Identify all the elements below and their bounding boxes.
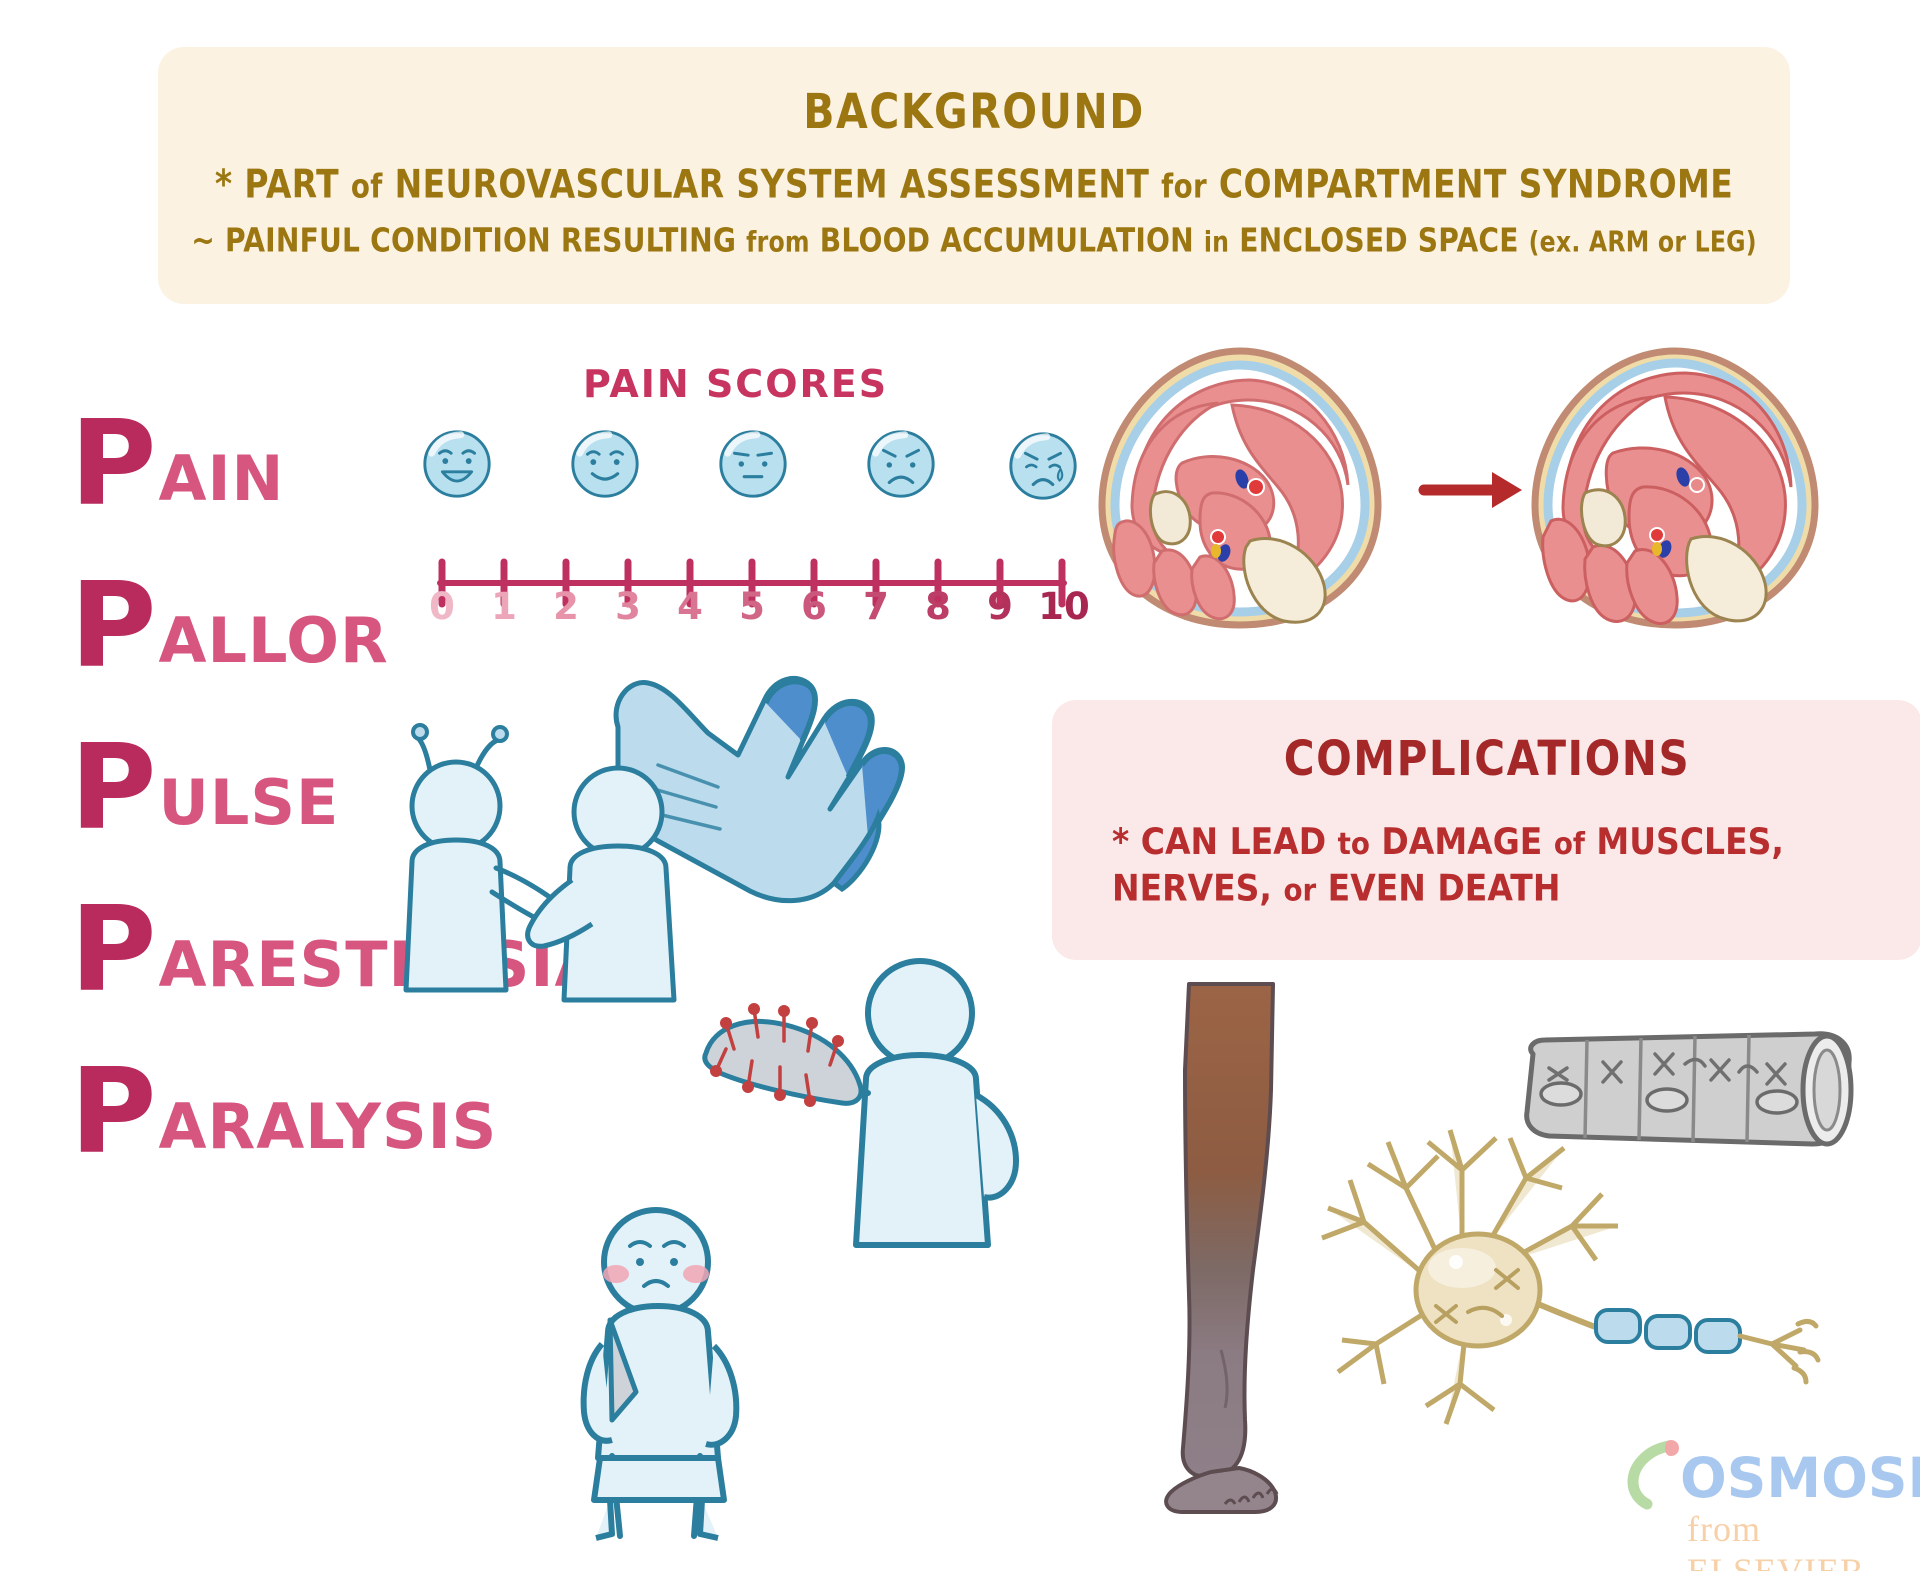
pain-number-1: 1 bbox=[491, 585, 517, 628]
osmosis-wordmark: OSMOSIS bbox=[1680, 1446, 1920, 1510]
happy-face-icon bbox=[418, 424, 496, 502]
pain-number-10: 10 bbox=[1038, 585, 1090, 628]
background-bullet-1: * PART of NEUROVASCULAR SYSTEM ASSESSMEN… bbox=[182, 162, 1765, 208]
bullet2-pre: ~ PAINFUL CONDITION RESULTING bbox=[191, 220, 746, 259]
bullet2-mid: BLOOD ACCUMULATION bbox=[810, 220, 1204, 259]
smile-face-icon bbox=[566, 424, 644, 502]
bullet1-mid: NEUROVASCULAR SYSTEM ASSESSMENT bbox=[383, 162, 1161, 208]
pain-number-5: 5 bbox=[739, 585, 765, 628]
bullet2-in: in bbox=[1204, 225, 1229, 258]
pain-face-row bbox=[418, 424, 1082, 516]
p-initial: P bbox=[70, 901, 154, 998]
pain-scores-title: PAIN SCORES bbox=[583, 362, 888, 406]
infographic-page: BACKGROUND * PART of NEUROVASCULAR SYSTE… bbox=[0, 0, 1920, 1571]
complications-bullet: * CAN LEAD to DAMAGE of MUSCLES, NERVES,… bbox=[1112, 819, 1920, 910]
background-info-box: BACKGROUND * PART of NEUROVASCULAR SYSTE… bbox=[158, 47, 1790, 304]
osmosis-logo: OSMOSIS from ELSEVIER bbox=[1625, 1432, 1920, 1557]
bullet1-of: of bbox=[351, 167, 383, 206]
background-bullet-2: ~ PAINFUL CONDITION RESULTING from BLOOD… bbox=[182, 220, 1765, 259]
comp-mid: DAMAGE bbox=[1370, 820, 1554, 863]
p-initial: P bbox=[70, 739, 154, 836]
pain-number-8: 8 bbox=[925, 585, 951, 628]
bullet2-end: ENCLOSED SPACE bbox=[1229, 220, 1528, 259]
pain-number-7: 7 bbox=[863, 585, 889, 628]
comp-of: of bbox=[1554, 826, 1585, 862]
frown-face-icon bbox=[862, 424, 940, 502]
pain-number-4: 4 bbox=[677, 585, 703, 628]
pain-number-3: 3 bbox=[615, 585, 641, 628]
right-arrow-icon bbox=[1420, 462, 1525, 518]
necrotic-leg-illustration bbox=[1155, 980, 1315, 1520]
pain-number-2: 2 bbox=[553, 585, 579, 628]
comp-tail: EVEN DEATH bbox=[1316, 866, 1560, 909]
leg-cross-section-normal-illustration bbox=[1090, 345, 1390, 630]
bullet2-from: from bbox=[746, 225, 810, 258]
osmosis-tagline: from ELSEVIER bbox=[1687, 1508, 1920, 1571]
comp-to: to bbox=[1338, 826, 1370, 862]
bullet1-end: COMPARTMENT SYNDROME bbox=[1207, 162, 1733, 208]
p-label: ARALYSIS bbox=[158, 1096, 497, 1158]
bullet1-pre: * PART bbox=[215, 162, 351, 208]
leg-cross-section-swollen-illustration bbox=[1525, 345, 1825, 630]
complications-info-box: COMPLICATIONS * CAN LEAD to DAMAGE of MU… bbox=[1052, 700, 1920, 960]
background-title: BACKGROUND bbox=[158, 83, 1790, 140]
damaged-muscle-fiber-illustration bbox=[1515, 1020, 1865, 1160]
pain-number-6: 6 bbox=[801, 585, 827, 628]
p-label: ALLOR bbox=[158, 610, 388, 672]
comp-or: or bbox=[1283, 871, 1316, 907]
pain-number-0: 0 bbox=[429, 585, 455, 628]
p-initial: P bbox=[70, 415, 154, 512]
bullet2-paren: (ex. ARM or LEG) bbox=[1529, 225, 1757, 258]
neutral-face-icon bbox=[714, 424, 792, 502]
bullet1-for: for bbox=[1161, 167, 1207, 206]
comp-pre: * CAN LEAD bbox=[1112, 820, 1338, 863]
p-initial: P bbox=[70, 577, 154, 674]
paralysis-illustration bbox=[568, 1200, 788, 1540]
p-label: AIN bbox=[158, 448, 284, 510]
p-initial: P bbox=[70, 1063, 154, 1160]
p-label: ULSE bbox=[158, 772, 339, 834]
complications-title: COMPLICATIONS bbox=[1052, 731, 1920, 787]
damaged-neuron-illustration bbox=[1310, 1120, 1830, 1450]
crying-face-icon bbox=[1004, 426, 1082, 504]
pain-scale-numbers: 0 1 2 3 4 5 6 7 8 9 10 bbox=[432, 585, 1072, 633]
pain-number-9: 9 bbox=[987, 585, 1013, 628]
